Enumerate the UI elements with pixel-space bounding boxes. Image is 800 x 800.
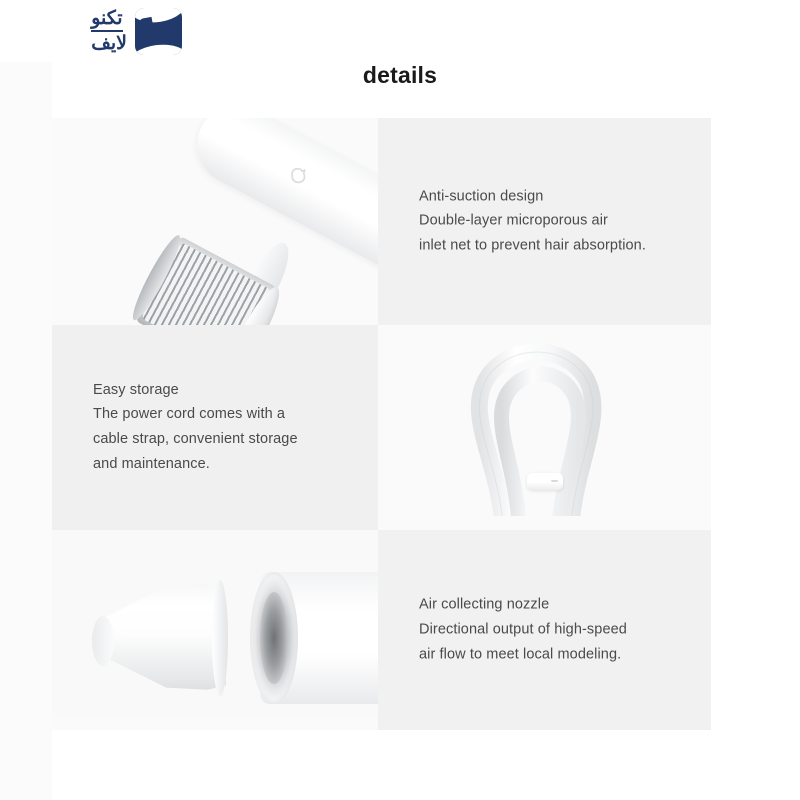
air-inlet-grille — [129, 233, 284, 325]
caption-line: Double-layer microporous air — [419, 209, 646, 234]
hair-dryer-air-inlet-grille-image — [52, 118, 378, 325]
panel-air-inlet-photo — [52, 118, 378, 325]
panel-power-cord-photo — [378, 325, 711, 530]
section-title: details — [0, 62, 800, 89]
concentrator-nozzle — [96, 582, 226, 692]
looped-power-cord-with-cable-strap-image — [378, 325, 711, 530]
panel-anti-suction-caption: Anti-suction design Double-layer micropo… — [378, 118, 711, 325]
caption-line: inlet net to prevent hair absorption. — [419, 234, 646, 259]
panel-air-nozzle-caption: Air collecting nozzle Directional output… — [378, 530, 711, 730]
air-collecting-nozzle-and-barrel-image — [52, 530, 378, 730]
brand-logo-text: تكنو لايف — [91, 9, 127, 53]
mi-logo-icon — [286, 163, 312, 189]
techno-life-logo-mark-icon — [135, 8, 182, 55]
brand-logo-line-2: لايف — [91, 34, 127, 53]
product-detail-page: تكنو لايف details — [0, 0, 800, 800]
caption-line: The power cord comes with a — [93, 403, 298, 428]
caption-air-collecting-nozzle: Air collecting nozzle Directional output… — [419, 593, 627, 668]
caption-line: Air collecting nozzle — [419, 593, 627, 618]
page-header: تكنو لايف — [0, 0, 800, 62]
caption-easy-storage: Easy storage The power cord comes with a… — [93, 378, 298, 478]
caption-anti-suction: Anti-suction design Double-layer micropo… — [419, 184, 646, 259]
panel-nozzle-photo — [52, 530, 378, 730]
caption-line: Anti-suction design — [419, 184, 646, 209]
power-cord-loop — [445, 337, 645, 527]
panel-easy-storage-caption: Easy storage The power cord comes with a… — [52, 325, 378, 530]
caption-line: Directional output of high-speed — [419, 618, 627, 643]
caption-line: cable strap, convenient storage — [93, 428, 298, 453]
caption-line: Easy storage — [93, 378, 298, 403]
cable-strap — [527, 473, 563, 490]
brand-logo-line-1: تكنو — [91, 9, 122, 31]
brand-logo[interactable]: تكنو لايف — [32, 6, 182, 56]
background-band — [0, 0, 52, 800]
caption-line: air flow to meet local modeling. — [419, 642, 627, 667]
details-grid: Anti-suction design Double-layer micropo… — [52, 118, 711, 730]
caption-line: and maintenance. — [93, 452, 298, 477]
